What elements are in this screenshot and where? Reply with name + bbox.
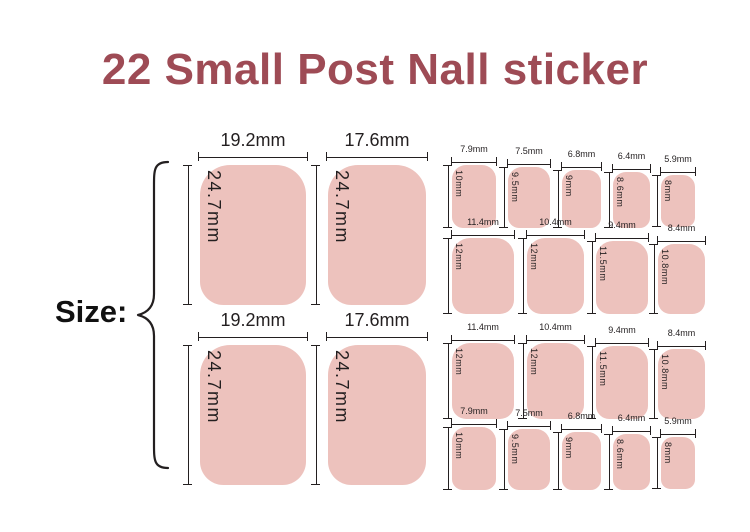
height-dimension-line xyxy=(182,345,194,485)
width-label: 8.4mm xyxy=(627,328,736,339)
height-dimension-line xyxy=(648,349,660,419)
height-label: 24.7mm xyxy=(205,350,223,424)
size-label: Size: xyxy=(55,294,127,330)
height-label: 10mm xyxy=(454,432,463,459)
page-title: 22 Small Post Nall sticker xyxy=(0,45,750,95)
width-dimension-line xyxy=(451,229,515,241)
height-label: 10mm xyxy=(454,170,463,197)
height-label: 10.8mm xyxy=(660,249,669,285)
height-dimension-line xyxy=(648,244,660,314)
width-dimension-line xyxy=(451,156,497,168)
height-dimension-line xyxy=(603,434,615,490)
height-label: 8mm xyxy=(663,180,672,202)
height-label: 9mm xyxy=(564,175,573,197)
height-dimension-line xyxy=(517,238,529,314)
height-label: 24.7mm xyxy=(333,170,351,244)
width-dimension-line xyxy=(198,151,308,163)
width-label: 5.9mm xyxy=(630,416,726,427)
width-dimension-line xyxy=(561,423,602,435)
height-dimension-line xyxy=(310,165,322,305)
height-dimension-line xyxy=(586,241,598,314)
width-dimension-line xyxy=(198,331,308,343)
width-dimension-line xyxy=(657,340,706,352)
height-dimension-line xyxy=(651,437,663,489)
height-label: 9mm xyxy=(564,437,573,459)
height-dimension-line xyxy=(586,346,598,419)
height-dimension-line xyxy=(498,429,510,490)
width-label: 8.4mm xyxy=(627,223,736,234)
height-label: 8.6mm xyxy=(615,177,624,208)
height-label: 24.7mm xyxy=(205,170,223,244)
height-dimension-line xyxy=(310,345,322,485)
height-dimension-line xyxy=(182,165,194,305)
height-label: 24.7mm xyxy=(333,350,351,424)
width-dimension-line xyxy=(451,418,497,430)
height-label: 11.5mm xyxy=(598,351,607,386)
height-label: 8mm xyxy=(663,442,672,464)
width-dimension-line xyxy=(326,151,428,163)
width-dimension-line xyxy=(561,161,602,173)
width-label: 5.9mm xyxy=(630,154,726,165)
height-label: 9.5mm xyxy=(510,434,519,465)
height-label: 12mm xyxy=(529,348,538,375)
nail-size-chart: 22 Small Post Nall sticker Size: 19.2mm2… xyxy=(0,0,750,532)
height-dimension-line xyxy=(442,238,454,314)
height-dimension-line xyxy=(552,432,564,490)
width-dimension-line xyxy=(451,334,515,346)
height-label: 12mm xyxy=(454,348,463,375)
height-label: 8.6mm xyxy=(615,439,624,470)
height-dimension-line xyxy=(442,427,454,490)
width-dimension-line xyxy=(326,331,428,343)
height-label: 11.5mm xyxy=(598,246,607,281)
width-dimension-line xyxy=(660,166,696,178)
curly-brace-icon xyxy=(136,160,170,470)
width-dimension-line xyxy=(660,428,696,440)
width-dimension-line xyxy=(657,235,706,247)
height-label: 10.8mm xyxy=(660,354,669,390)
height-label: 12mm xyxy=(454,243,463,270)
height-label: 9.5mm xyxy=(510,172,519,203)
height-label: 12mm xyxy=(529,243,538,270)
